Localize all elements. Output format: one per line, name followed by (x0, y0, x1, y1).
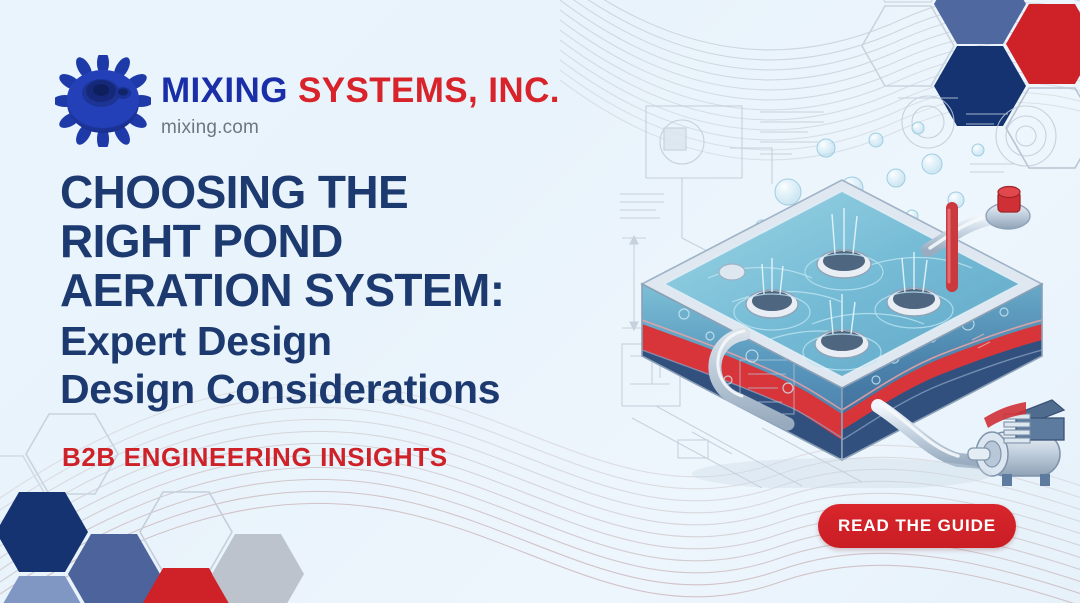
headline-line-3: AERATION SYSTEM: (60, 266, 680, 315)
read-the-guide-button[interactable]: READ THE GUIDE (818, 504, 1016, 548)
logo[interactable]: MIXING SYSTEMS, INC. mixing.com (55, 55, 560, 147)
logo-word-mixing: MIXING (161, 71, 298, 110)
logo-wordmark: MIXING SYSTEMS, INC. (161, 73, 560, 108)
subheadline-line-1: Expert Design (60, 318, 680, 366)
subheadline-line-2: Design Considerations (60, 366, 680, 414)
subheadline-block: Expert Design Design Considerations (60, 318, 680, 414)
logo-text: MIXING SYSTEMS, INC. mixing.com (161, 55, 560, 139)
impeller-gear-icon (55, 55, 151, 147)
cta-label: READ THE GUIDE (838, 516, 996, 536)
logo-word-systems: SYSTEMS, INC. (298, 71, 560, 110)
headline-block: CHOOSING THE RIGHT POND AERATION SYSTEM:… (60, 168, 680, 414)
headline-line-1: CHOOSING THE (60, 168, 680, 217)
logo-domain: mixing.com (161, 117, 560, 139)
tagline: B2B ENGINEERING INSIGHTS (62, 442, 448, 473)
banner-root: MIXING SYSTEMS, INC. mixing.com CHOOSING… (0, 0, 1080, 603)
pond-aeration-illustration (612, 88, 1080, 488)
headline-line-2: RIGHT POND (60, 217, 680, 266)
